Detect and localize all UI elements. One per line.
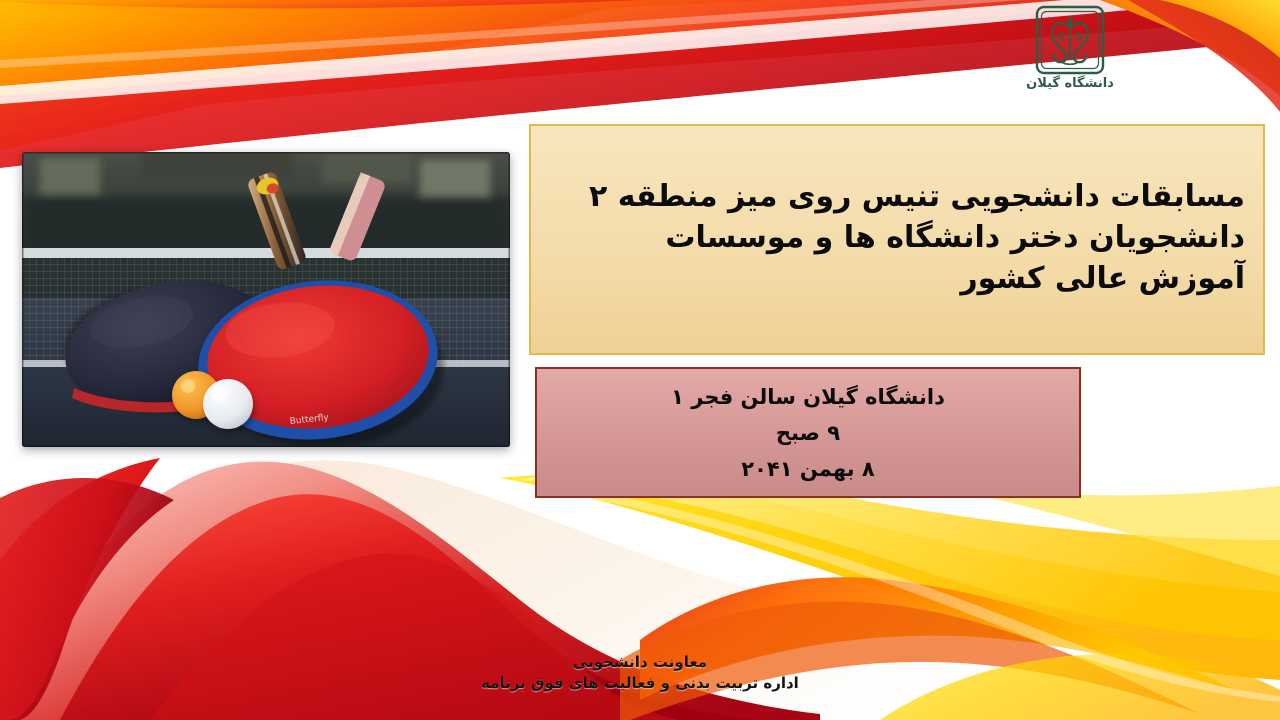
- footer-line-2: اداره تربیت بدنی و فعالیت های فوق برنامه: [481, 673, 799, 694]
- event-title-line-2: دانشجویان دختر دانشگاه ها و موسسات: [665, 217, 1245, 258]
- university-logo: دانشگاه گیلان: [1022, 4, 1118, 104]
- poster-canvas: Butterfly: [0, 0, 1280, 720]
- footer-line-1: معاونت دانشجویی: [573, 652, 707, 673]
- organizer-footer: معاونت دانشجویی اداره تربیت بدنی و فعالی…: [0, 652, 1280, 694]
- venue-location: دانشگاه گیلان سالن فجر ۱: [671, 379, 945, 415]
- venue-date: ۸ بهمن ۱۴۰۲: [741, 451, 874, 487]
- table-tennis-photo-illustration: Butterfly: [22, 152, 510, 447]
- university-logo-caption: دانشگاه گیلان: [1022, 76, 1118, 91]
- event-title-line-3: آموزش عالی کشور: [960, 258, 1245, 299]
- event-title-line-1: مسابقات دانشجویی تنیس روی میز منطقه ۲: [589, 176, 1245, 217]
- event-title-box: مسابقات دانشجویی تنیس روی میز منطقه ۲ دا…: [529, 124, 1265, 355]
- venue-time: ۹ صبح: [776, 415, 840, 451]
- table-tennis-photo: Butterfly: [22, 152, 510, 447]
- venue-details-box: دانشگاه گیلان سالن فجر ۱ ۹ صبح ۸ بهمن ۱۴…: [535, 367, 1081, 498]
- university-emblem-icon: [1034, 4, 1106, 76]
